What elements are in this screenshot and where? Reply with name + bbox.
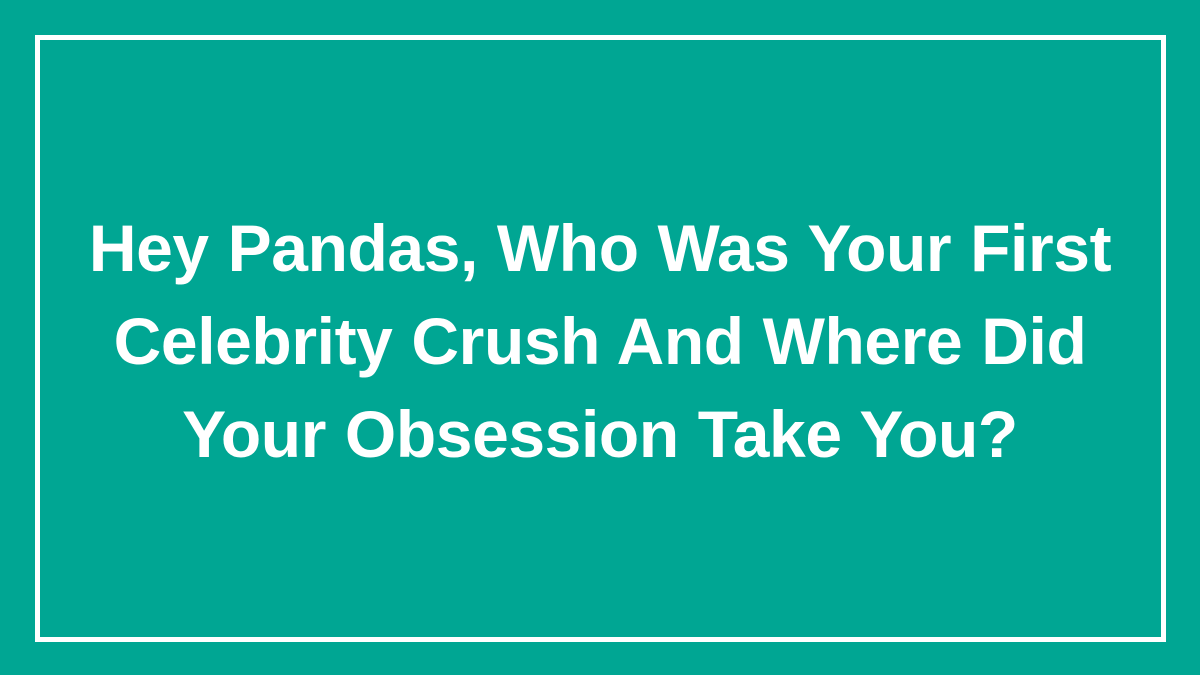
headline-line-3: Your Obsession Take You?	[70, 388, 1130, 481]
headline-line-1: Hey Pandas, Who Was Your First	[70, 202, 1130, 295]
headline-block: Hey Pandas, Who Was Your First Celebrity…	[70, 202, 1130, 481]
question-card: Hey Pandas, Who Was Your First Celebrity…	[0, 0, 1200, 675]
headline-line-2: Celebrity Crush And Where Did	[70, 295, 1130, 388]
page-title: Hey Pandas, Who Was Your First Celebrity…	[70, 202, 1130, 481]
